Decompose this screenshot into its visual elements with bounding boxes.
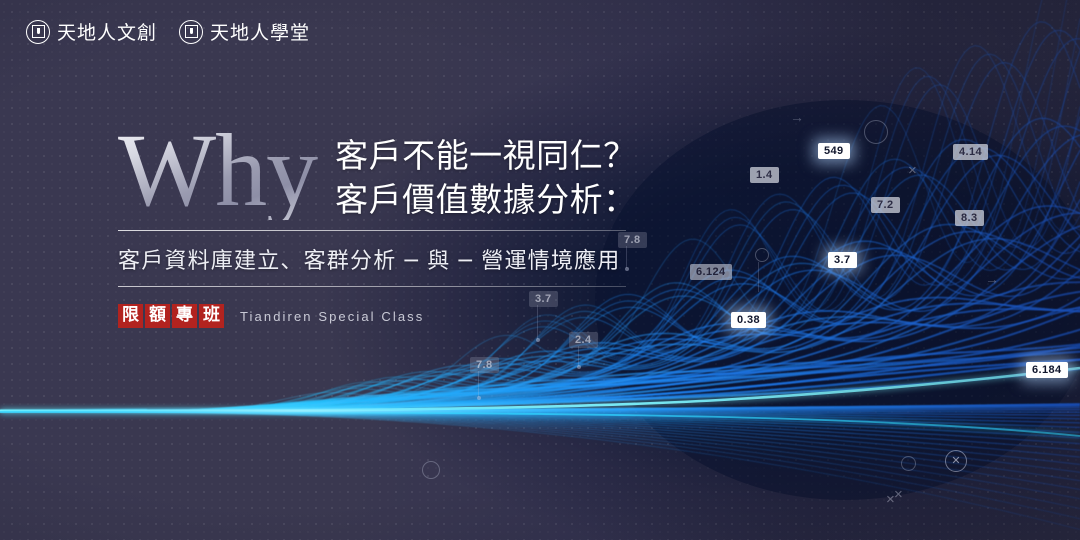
data-label: 7.2 — [871, 197, 900, 213]
data-label: 7.8 — [618, 232, 647, 248]
data-label: 2.4 — [569, 332, 598, 348]
label-anchor-dot — [577, 365, 581, 369]
badge-char-1: 限 — [118, 304, 143, 328]
square-quote-icon — [26, 20, 50, 44]
data-label: 0.38 — [731, 312, 766, 328]
logo-tiandiren-xuetang[interactable]: 天地人學堂 — [179, 18, 310, 45]
circle-x-icon: ✕ — [945, 450, 967, 472]
brand-logos: 天地人文創 天地人學堂 — [26, 18, 310, 45]
circle-outline-icon — [422, 461, 440, 479]
data-label: 8.3 — [955, 210, 984, 226]
headline-line-1: 客戶不能一視同仁？ — [335, 134, 637, 178]
data-label: 7.8 — [470, 357, 499, 373]
data-label: 6.124 — [690, 264, 732, 280]
cross-icon: × — [894, 487, 903, 502]
data-label: 3.7 — [828, 252, 857, 268]
data-label: 1.4 — [750, 167, 779, 183]
label-connector-tick — [578, 346, 579, 366]
headline-line-2: 客戶價值數據分析： — [335, 178, 637, 222]
arrow-right-icon: → — [985, 272, 997, 286]
arrow-right-icon: → — [790, 110, 802, 124]
badge-english-label: Tiandiren Special Class — [240, 309, 424, 324]
label-connector-tick — [478, 371, 479, 397]
circle-outline-icon — [755, 248, 769, 262]
badge-row: 限 額 專 班 Tiandiren Special Class — [118, 304, 637, 328]
divider-bottom — [118, 286, 626, 287]
data-label: 6.184 — [1026, 362, 1068, 378]
why-wordmark: Why — [118, 122, 325, 220]
circle-outline-icon — [864, 120, 888, 144]
divider-top — [118, 230, 626, 231]
square-quote-icon — [179, 20, 203, 44]
logo-label-1: 天地人文創 — [57, 18, 157, 45]
label-connector-tick — [758, 262, 759, 292]
data-label: 4.14 — [953, 144, 988, 160]
circle-outline-icon — [901, 456, 916, 471]
data-label: 549 — [818, 143, 850, 159]
logo-tiandiren-wenchuang[interactable]: 天地人文創 — [26, 18, 157, 45]
label-anchor-dot — [477, 396, 481, 400]
promo-banner: 天地人文創 天地人學堂 Why 客戶不能一視同仁？ 客戶價值數據分析： 客戶資料… — [0, 0, 1080, 540]
hero-headline: Why 客戶不能一視同仁？ 客戶價值數據分析： 客戶資料庫建立、客群分析 ─ 與… — [118, 128, 637, 328]
data-label: 3.7 — [529, 291, 558, 307]
limited-class-badge: 限 額 專 班 — [118, 304, 224, 328]
label-anchor-dot — [536, 338, 540, 342]
badge-char-4: 班 — [199, 304, 224, 328]
badge-char-3: 專 — [172, 304, 197, 328]
headline-chinese: 客戶不能一視同仁？ 客戶價值數據分析： — [335, 134, 637, 221]
logo-label-2: 天地人學堂 — [210, 18, 310, 45]
hero-subtitle: 客戶資料庫建立、客群分析 ─ 與 ─ 營運情境應用 — [118, 243, 637, 275]
cross-icon: × — [908, 163, 917, 178]
badge-char-2: 額 — [145, 304, 170, 328]
